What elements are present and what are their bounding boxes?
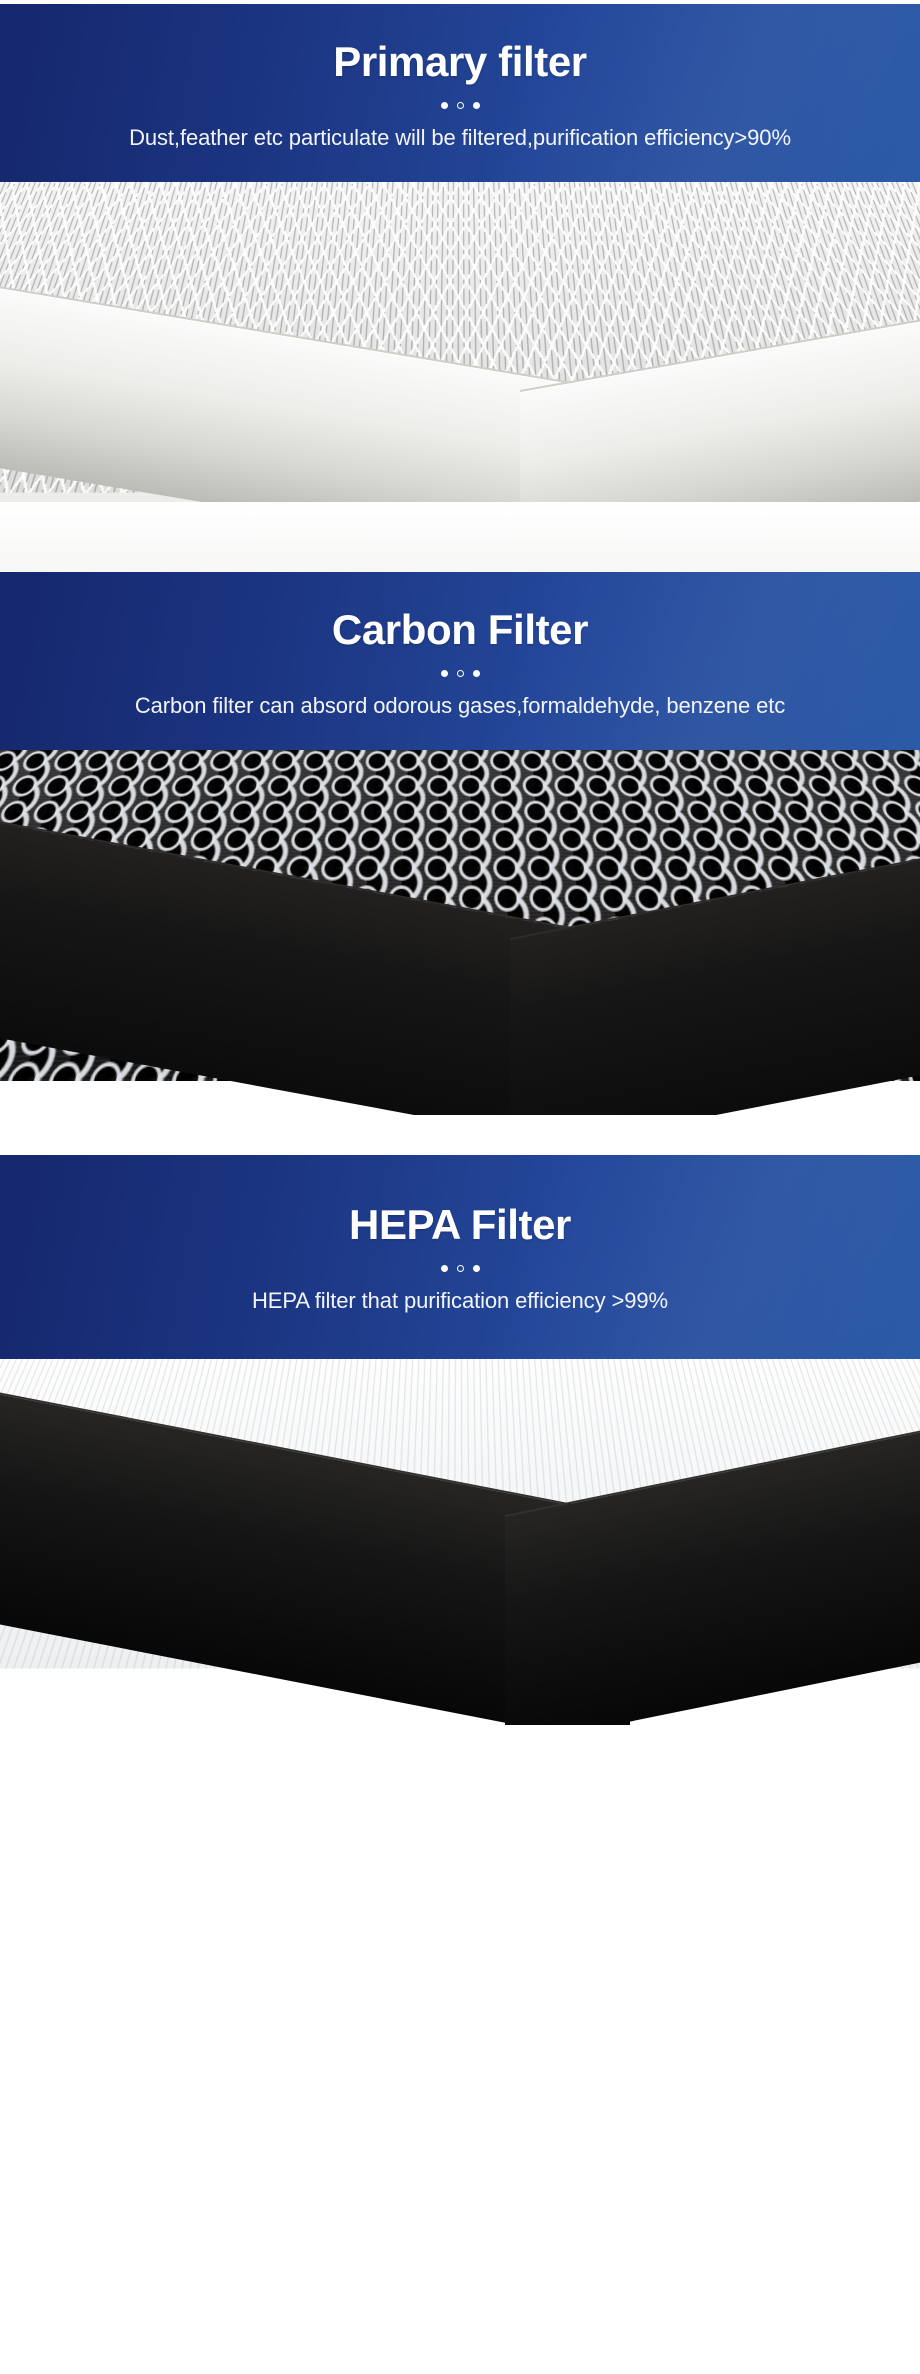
- description-primary-filter: Dust,feather etc particulate will be fil…: [20, 125, 900, 152]
- dot-separator: [20, 102, 900, 109]
- dot-solid-icon: [473, 102, 480, 109]
- section-carbon-filter-caption: Carbon Filter Carbon filter can absord o…: [0, 572, 920, 750]
- description-carbon-filter: Carbon filter can absord odorous gases,f…: [20, 693, 900, 720]
- primary-filter-backdrop: [0, 502, 920, 572]
- description-hepa-filter: HEPA filter that purification efficiency…: [20, 1288, 900, 1315]
- page-title-carbon-filter: Carbon Filter: [20, 608, 900, 652]
- caption-inner: HEPA Filter HEPA filter that purificatio…: [20, 1203, 900, 1315]
- dot-solid-icon: [441, 1265, 448, 1272]
- dot-solid-icon: [473, 1265, 480, 1272]
- dot-hollow-icon: [457, 1265, 464, 1272]
- carbon-filter-backdrop: [0, 1115, 920, 1155]
- dot-solid-icon: [441, 670, 448, 677]
- photo-hepa-filter: [0, 1359, 920, 1747]
- caption-inner: Primary filter Dust,feather etc particul…: [20, 40, 900, 152]
- dot-solid-icon: [473, 670, 480, 677]
- photo-carbon-filter: [0, 750, 920, 1155]
- section-hepa-filter-caption: HEPA Filter HEPA filter that purificatio…: [0, 1155, 920, 1359]
- photo-primary-filter: [0, 182, 920, 572]
- page-title-hepa-filter: HEPA Filter: [20, 1203, 900, 1247]
- dot-hollow-icon: [457, 670, 464, 677]
- dot-separator: [20, 1265, 900, 1272]
- page-title-primary-filter: Primary filter: [20, 40, 900, 84]
- caption-inner: Carbon Filter Carbon filter can absord o…: [20, 608, 900, 720]
- dot-solid-icon: [441, 102, 448, 109]
- dot-separator: [20, 670, 900, 677]
- product-feature-page: Primary filter Dust,feather etc particul…: [0, 0, 920, 2374]
- hepa-filter-backdrop: [0, 1725, 920, 1747]
- dot-hollow-icon: [457, 102, 464, 109]
- section-primary-filter-caption: Primary filter Dust,feather etc particul…: [0, 4, 920, 182]
